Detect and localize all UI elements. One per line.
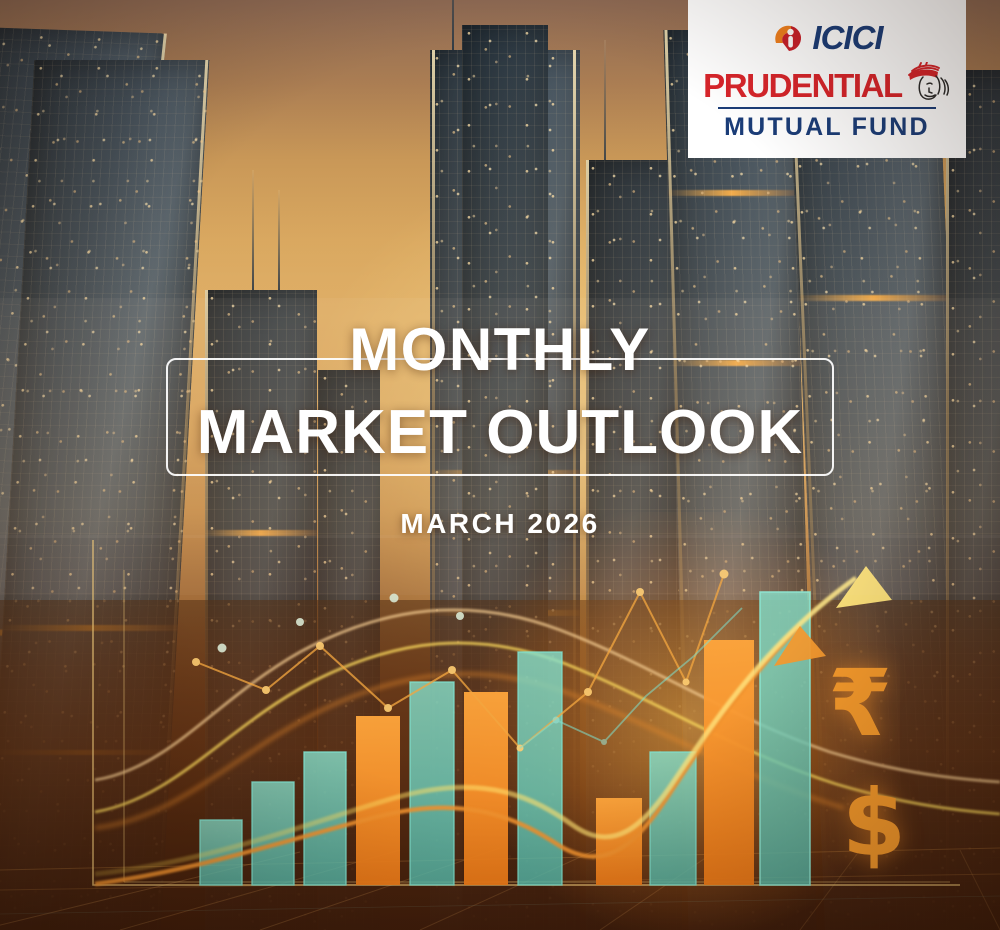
prudential-prudence-face-icon bbox=[905, 62, 951, 102]
brand-logo-block: ICICI PRUDENTIAL bbox=[688, 0, 966, 158]
brand-name-prudential: PRUDENTIAL bbox=[703, 69, 902, 102]
rupee-symbol: ₹ bbox=[828, 658, 892, 750]
zigzag-node-line bbox=[192, 570, 729, 752]
bar-5-teal bbox=[410, 682, 454, 885]
page-title-line-two: MARKET OUTLOOK bbox=[197, 402, 803, 464]
spire-left-a bbox=[252, 170, 254, 290]
poster-root: ₹ $ MONTHLY MARKET OUTLOOK MARCH 2026 IC… bbox=[0, 0, 1000, 930]
brand-name-icici: ICICI bbox=[812, 21, 882, 54]
logo-primary-row: ICICI bbox=[771, 18, 882, 58]
issue-date-label: MARCH 2026 bbox=[400, 508, 599, 540]
bar-7-teal bbox=[518, 652, 562, 885]
logo-divider bbox=[718, 107, 936, 110]
dollar-symbol: $ bbox=[842, 778, 906, 870]
financial-chart-overlay: ₹ $ bbox=[0, 530, 1000, 930]
spire-central-b bbox=[604, 40, 606, 170]
brand-name-mutual-fund: MUTUAL FUND bbox=[724, 115, 930, 140]
icici-i-mark-icon bbox=[771, 21, 805, 55]
logo-secondary-row: PRUDENTIAL bbox=[703, 62, 951, 102]
spire-central-a bbox=[452, 0, 454, 50]
bar-8-orange bbox=[596, 798, 642, 885]
bar-9-teal bbox=[650, 752, 696, 885]
title-block: MONTHLY MARKET OUTLOOK MARCH 2026 bbox=[0, 296, 1000, 546]
page-title-line-one: MONTHLY bbox=[349, 320, 651, 380]
bar-10-orange bbox=[704, 640, 754, 885]
spire-left-b bbox=[278, 190, 280, 290]
